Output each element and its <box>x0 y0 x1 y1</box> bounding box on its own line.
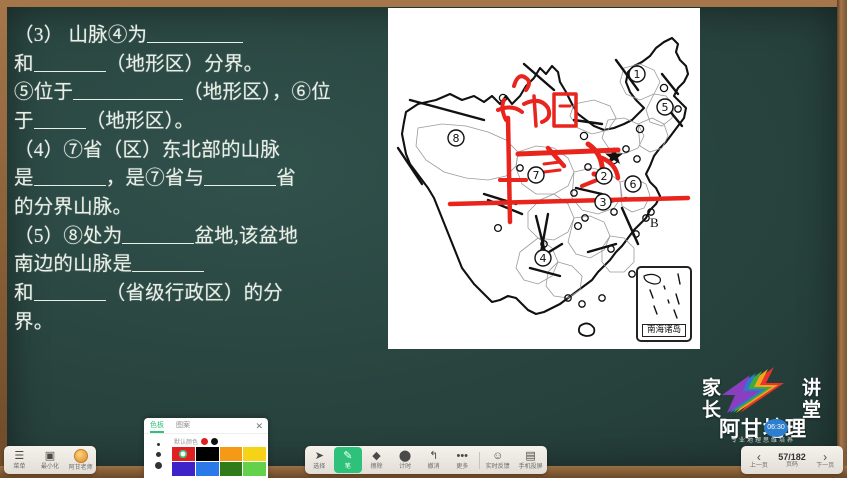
q4-text-b: 是 <box>14 168 34 189</box>
map-marker-label: 4 <box>540 252 547 265</box>
more-button[interactable]: ••• 更多 <box>448 447 477 473</box>
card-icon: ▣ <box>45 451 55 462</box>
map-marker-7[interactable]: 7 <box>528 167 544 183</box>
question-line-5d: 界。 <box>14 309 386 338</box>
undo-icon: ↰ <box>429 451 438 462</box>
page-counter-value: 57/182 <box>778 452 806 462</box>
q4-text-a: ⑦省（区）东北部的山脉 <box>63 140 280 161</box>
pen-size-selector[interactable] <box>144 434 172 478</box>
map-marker-label: 8 <box>453 132 460 145</box>
swatch-dark-green[interactable] <box>220 462 243 476</box>
q3-text-b: 和 <box>14 54 34 75</box>
q4-text-c: ，是⑦省与 <box>106 168 205 189</box>
pen-size-large-dot[interactable] <box>155 462 162 469</box>
pen-tool-label: 笔 <box>345 463 351 470</box>
question-line-5c: 和（省级行政区）的分 <box>14 280 386 309</box>
toolbar-divider <box>479 452 480 469</box>
next-page-button[interactable]: › 下一页 <box>811 447 839 473</box>
swatch-orange[interactable] <box>220 447 243 461</box>
eraser-tool-button[interactable]: ◆ 擦除 <box>362 447 391 473</box>
china-map-panel[interactable]: 12345678 B 南海诸岛 <box>388 8 700 349</box>
map-marker-4[interactable]: 4 <box>535 250 551 266</box>
q3-text-a: 山脉④为 <box>68 25 147 46</box>
avatar-icon <box>74 449 88 463</box>
screencast-icon: ▤ <box>525 451 535 462</box>
q3-text-f: 于 <box>14 111 34 132</box>
map-marker-label: 5 <box>662 101 669 114</box>
palette-tabs: 色板 图案 ✕ <box>144 418 268 434</box>
logo-tagline: 专业地理思维培养 <box>700 435 826 444</box>
map-marker-label: 1 <box>634 68 641 81</box>
screencast-label: 手机投屏 <box>519 463 543 470</box>
map-marker-label: 3 <box>600 196 607 209</box>
q3-text-d: ⑤位于 <box>14 82 73 103</box>
inset-label: 南海诸岛 <box>642 324 686 337</box>
answer-blank <box>34 112 86 129</box>
drawing-toolbar[interactable]: ➤ 选择 ✎ 笔 ◆ 擦除 ⬤ 计时 ↰ 撤消 ••• 更多 ☺ 实时反馈 ▤ … <box>305 446 547 474</box>
color-swatch-grid[interactable] <box>172 447 266 476</box>
timer-tool-button[interactable]: ⬤ 计时 <box>391 447 420 473</box>
timer-tool-label: 计时 <box>399 463 411 470</box>
swatch-purple-blue[interactable] <box>172 462 195 476</box>
q5-text-e: （省级行政区）的分 <box>106 283 283 304</box>
tab-color-board[interactable]: 色板 <box>150 420 164 432</box>
q3-text-g: （地形区）。 <box>86 111 194 132</box>
undo-label: 撤消 <box>428 463 440 470</box>
map-marker-2[interactable]: 2 <box>596 168 612 184</box>
question-line-3a: （3） 山脉④为 <box>14 22 386 51</box>
inset-islands-svg <box>638 268 690 326</box>
default-color-dark-dot[interactable] <box>211 438 218 445</box>
chevron-left-icon: ‹ <box>757 451 761 463</box>
left-toolbar[interactable]: ☰ 菜单 ▣ 最小化 阿甘老师 <box>4 446 96 474</box>
page-counter-label: 页码 <box>786 462 798 469</box>
answer-blank <box>147 26 243 43</box>
timer-icon: ⬤ <box>399 451 411 462</box>
next-page-label: 下一页 <box>816 463 834 470</box>
eraser-tool-label: 擦除 <box>370 463 382 470</box>
swatch-blue[interactable] <box>196 462 219 476</box>
q3-text-e: （地形区），⑥位 <box>183 82 331 103</box>
pen-size-small-dot[interactable] <box>157 443 160 446</box>
pagination-bar[interactable]: ‹ 上一页 57/182 页码 › 下一页 <box>741 446 843 474</box>
map-marker-8[interactable]: 8 <box>448 130 464 146</box>
map-marker-5[interactable]: 5 <box>657 99 673 115</box>
feedback-icon: ☺ <box>492 451 503 462</box>
chevron-right-icon: › <box>823 451 827 463</box>
q3-prefix: （3） <box>14 25 63 46</box>
q4-text-e: 的分界山脉。 <box>14 197 132 218</box>
question-line-3c: ⑤位于（地形区），⑥位 <box>14 79 386 108</box>
menu-icon: ☰ <box>14 451 24 462</box>
south-china-sea-inset: 南海诸岛 <box>636 266 692 342</box>
default-color-row: 默认颜色 <box>172 436 266 447</box>
teacher-profile-button[interactable]: 阿甘老师 <box>65 447 96 473</box>
undo-button[interactable]: ↰ 撤消 <box>419 447 448 473</box>
map-marker-label: 2 <box>601 170 608 183</box>
teacher-name-label: 阿甘老师 <box>69 464 93 471</box>
swatch-red[interactable] <box>172 447 195 461</box>
question-line-3d: 于（地形区）。 <box>14 108 386 137</box>
default-color-red-dot[interactable] <box>201 438 208 445</box>
q4-prefix: （4） <box>14 140 63 161</box>
map-marker-1[interactable]: 1 <box>629 66 645 82</box>
q5-text-f: 界。 <box>14 312 53 333</box>
q5-text-c: 南边的山脉是 <box>14 254 132 275</box>
question-line-4a: （4）⑦省（区）东北部的山脉 <box>14 137 386 166</box>
palette-body: 默认颜色 <box>144 434 268 478</box>
swatch-black[interactable] <box>196 447 219 461</box>
map-region-label-b: B <box>650 215 659 231</box>
pen-tool-button[interactable]: ✎ 笔 <box>334 447 363 473</box>
question-line-4c: 的分界山脉。 <box>14 194 386 223</box>
q5-text-a: ⑧处为 <box>63 226 122 247</box>
tab-pattern[interactable]: 图案 <box>176 420 190 432</box>
pen-icon: ✎ <box>343 451 352 462</box>
color-palette-panel[interactable]: 色板 图案 ✕ 默认颜色 <box>144 418 268 478</box>
close-icon[interactable]: ✕ <box>255 421 263 432</box>
answer-blank <box>34 55 106 72</box>
question-line-4b: 是，是⑦省与省 <box>14 165 386 194</box>
eraser-icon: ◆ <box>372 451 380 462</box>
answer-blank <box>34 284 106 301</box>
question-line-5b: 南边的山脉是 <box>14 251 386 280</box>
menu-button[interactable]: ☰ 菜单 <box>4 447 35 473</box>
screencast-button[interactable]: ▤ 手机投屏 <box>514 447 547 473</box>
select-tool-label: 选择 <box>313 463 325 470</box>
minimize-label: 最小化 <box>41 463 59 470</box>
map-marker-6[interactable]: 6 <box>625 176 641 192</box>
palette-swatch-area: 默认颜色 <box>172 434 268 478</box>
answer-blank <box>204 169 276 186</box>
map-marker-3[interactable]: 3 <box>595 194 611 210</box>
q5-text-d: 和 <box>14 283 34 304</box>
answer-blank <box>34 169 106 186</box>
swatch-yellow[interactable] <box>243 447 266 461</box>
question-line-5a: （5）⑧处为盆地,该盆地 <box>14 223 386 252</box>
pen-size-medium-dot[interactable] <box>156 452 161 457</box>
map-marker-label: 6 <box>630 178 637 191</box>
previous-page-button[interactable]: ‹ 上一页 <box>745 447 773 473</box>
map-marker-label: 7 <box>533 169 540 182</box>
channel-logo: 家 长 讲 堂 阿甘地理 06:30 专业地理思维培养 <box>700 365 826 443</box>
q5-text-b: 盆地,该盆地 <box>194 226 298 247</box>
page-counter[interactable]: 57/182 页码 <box>773 452 812 469</box>
cursor-icon: ➤ <box>315 451 324 462</box>
answer-blank <box>73 83 183 100</box>
previous-page-label: 上一页 <box>750 463 768 470</box>
swatch-light-green[interactable] <box>243 462 266 476</box>
more-label: 更多 <box>456 463 468 470</box>
answer-blank <box>132 255 204 272</box>
minimize-button[interactable]: ▣ 最小化 <box>35 447 66 473</box>
answer-blank <box>122 227 194 244</box>
menu-label: 菜单 <box>13 463 25 470</box>
q5-prefix: （5） <box>14 226 63 247</box>
default-color-label: 默认颜色 <box>174 437 198 446</box>
q3-text-c: （地形区）分界。 <box>106 54 264 75</box>
realtime-feedback-button[interactable]: ☺ 实时反馈 <box>481 447 514 473</box>
more-icon: ••• <box>456 451 468 462</box>
q4-text-d: 省 <box>276 168 296 189</box>
realtime-feedback-label: 实时反馈 <box>486 463 510 470</box>
question-line-3b: 和（地形区）分界。 <box>14 51 386 80</box>
select-tool-button[interactable]: ➤ 选择 <box>305 447 334 473</box>
chalkboard-question-text: （3） 山脉④为 和（地形区）分界。 ⑤位于（地形区），⑥位 于（地形区）。 （… <box>14 22 386 337</box>
